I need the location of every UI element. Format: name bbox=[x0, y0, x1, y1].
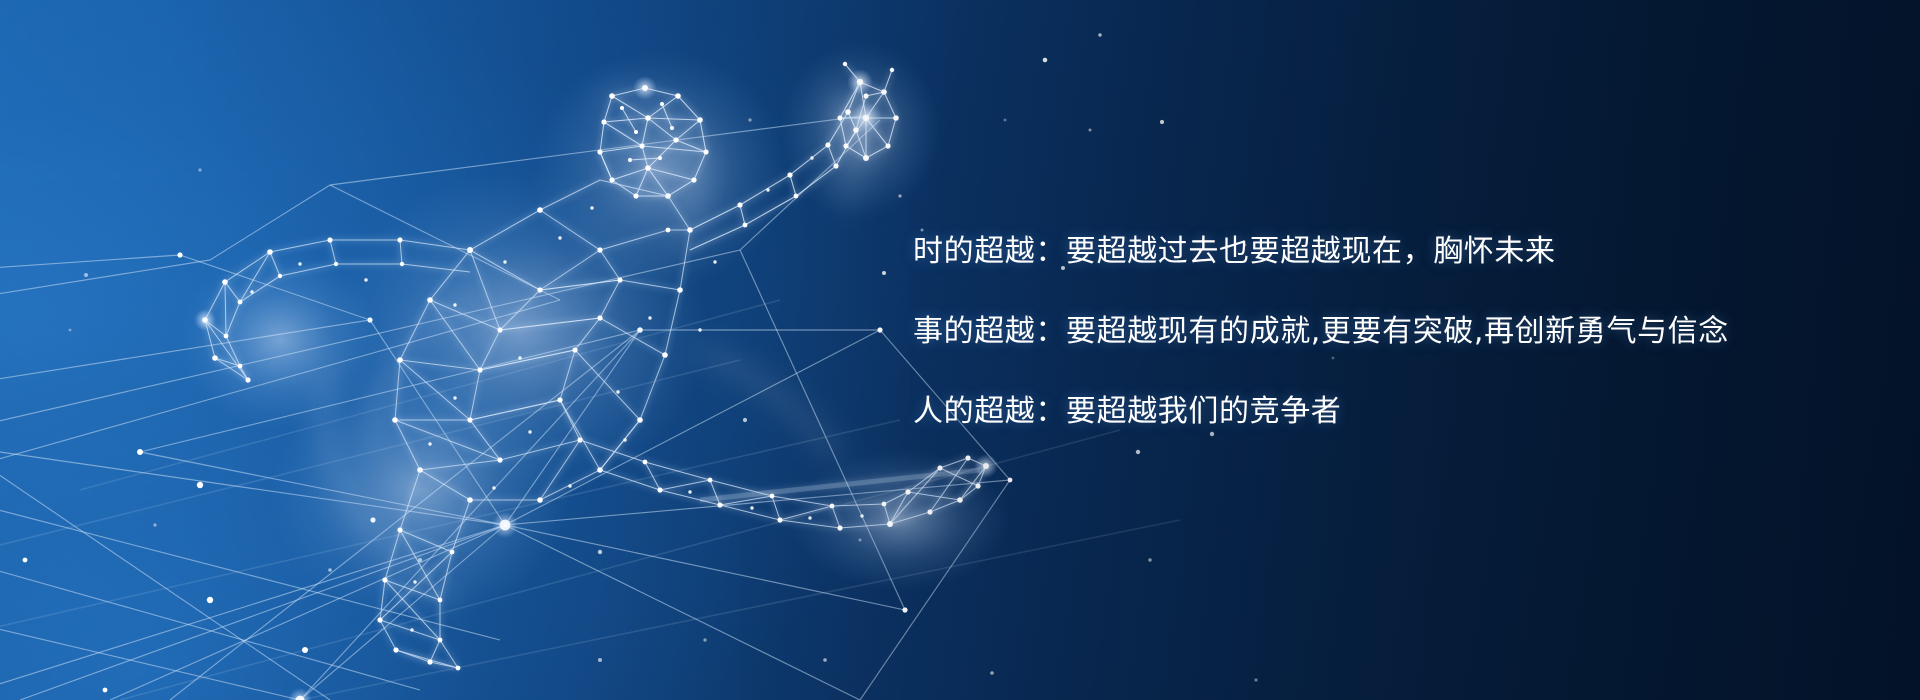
hero-banner: 时的超越：要超越过去也要超越现在，胸怀未来 事的超越：要超越现有的成就,更要有突… bbox=[0, 0, 1920, 700]
slogan-text-block: 时的超越：要超越过去也要超越现在，胸怀未来 事的超越：要超越现有的成就,更要有突… bbox=[913, 237, 1813, 427]
slogan-line-1: 时的超越：要超越过去也要超越现在，胸怀未来 bbox=[913, 237, 1813, 267]
slogan-line-3: 人的超越：要超越我们的竞争者 bbox=[913, 397, 1813, 427]
slogan-line-2: 事的超越：要超越现有的成就,更要有突破,再创新勇气与信念 bbox=[913, 317, 1813, 347]
